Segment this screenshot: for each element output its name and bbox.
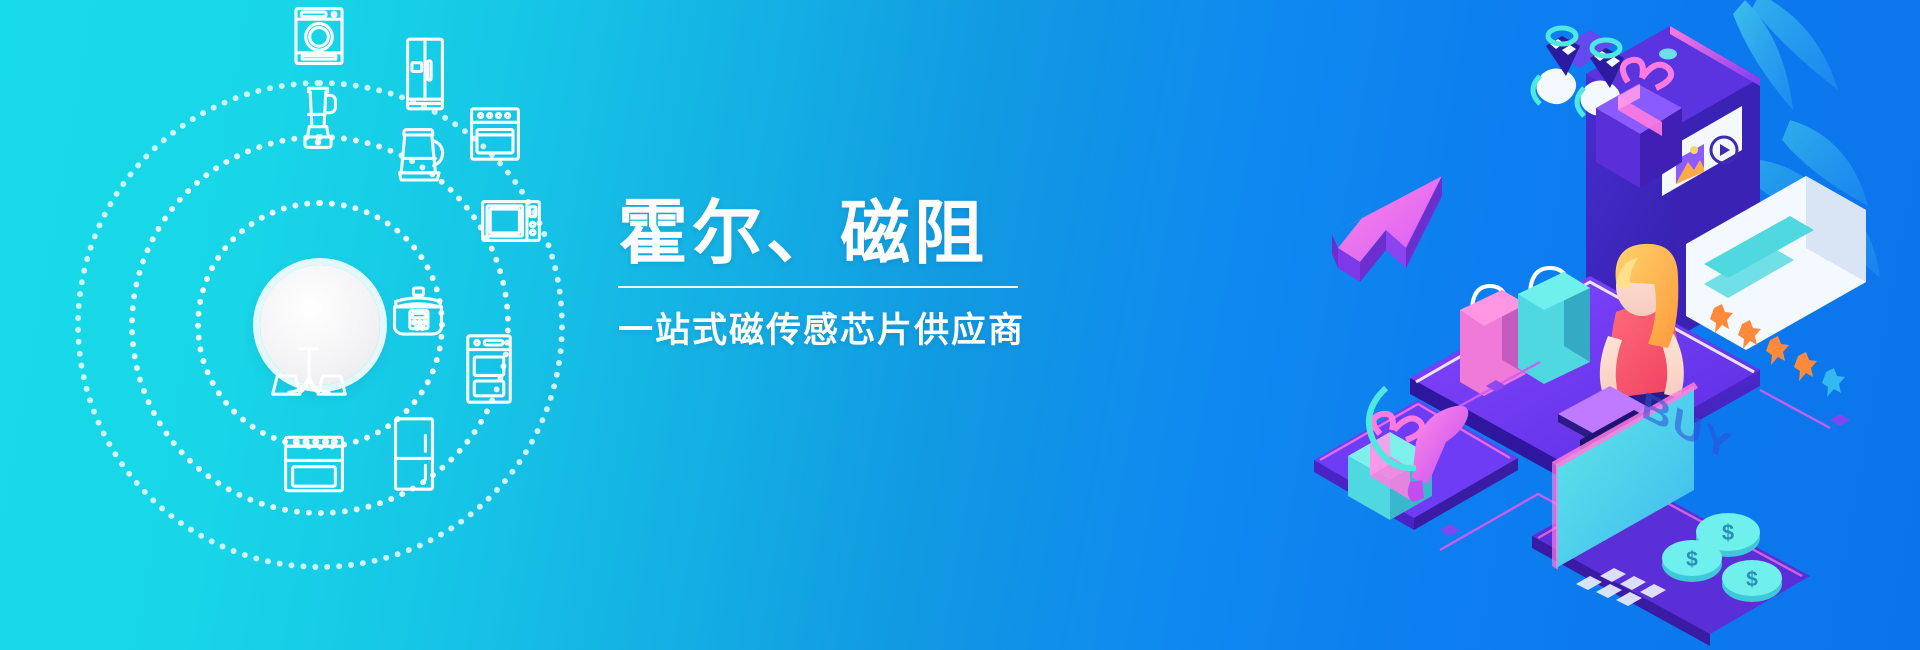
ecommerce-isometric-illustration: $ $ $ BUY bbox=[1290, 0, 1920, 650]
cursor-arrow-icon bbox=[1332, 176, 1442, 282]
svg-text:$: $ bbox=[1746, 568, 1758, 591]
svg-text:$: $ bbox=[1686, 548, 1698, 571]
page-title: 霍尔、磁阻 bbox=[618, 196, 1038, 270]
title-divider bbox=[618, 286, 1018, 288]
washing-machine-icon bbox=[292, 5, 346, 67]
oven-icon bbox=[468, 105, 522, 163]
hero-banner: 霍尔、磁阻 一站式磁传感芯片供应商 bbox=[0, 0, 1920, 650]
refrigerator-side-by-side-icon bbox=[405, 35, 445, 113]
stove-icon bbox=[282, 433, 346, 495]
svg-text:$: $ bbox=[1722, 520, 1734, 545]
microwave-icon bbox=[480, 197, 542, 245]
refrigerator-icon bbox=[392, 415, 436, 493]
dishwasher-icon bbox=[464, 333, 514, 405]
electric-kettle-icon bbox=[394, 120, 448, 186]
headline-block: 霍尔、磁阻 一站式磁传感芯片供应商 bbox=[618, 196, 1038, 353]
appliance-ring-graphic bbox=[60, 0, 580, 650]
chandelier-icon bbox=[270, 345, 348, 407]
rice-cooker-icon bbox=[390, 285, 446, 347]
page-subtitle: 一站式磁传感芯片供应商 bbox=[618, 302, 1038, 353]
blender-icon bbox=[298, 83, 338, 151]
